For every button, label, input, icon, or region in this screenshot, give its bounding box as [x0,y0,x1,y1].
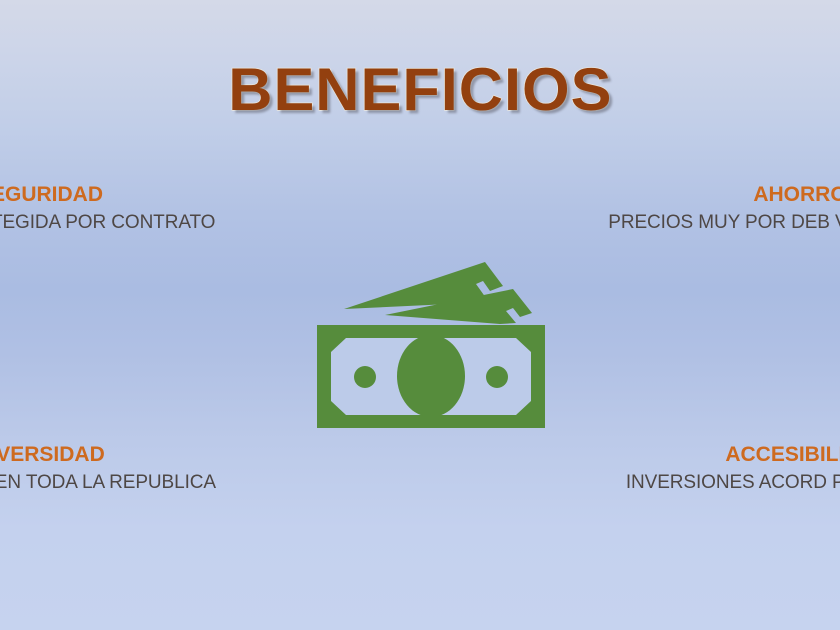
money-bills-icon [300,250,562,440]
benefit-heading-seguridad: SEGURIDAD [0,182,240,207]
banknote-left-dot [354,366,376,388]
benefit-block-diversidad: DIVERSIDAD DISPONIBLES EN TODA LA REPUBL… [0,442,240,496]
page-title: BENEFICIOS [228,58,612,122]
benefit-block-seguridad: SEGURIDAD ON ESTA PROTEGIDA POR CONTRATO [0,182,240,236]
money-bills-icon-svg [300,250,562,440]
slide-canvas: BENEFICIOS SEGURIDAD ON ESTA PROTEGIDA P… [0,0,840,630]
banknote-right-dot [486,366,508,388]
benefit-body-seguridad: ON ESTA PROTEGIDA POR CONTRATO [0,209,240,236]
benefit-block-accesibilidad: ACCESIBILIDA INVERSIONES ACORD PRESUPUES… [600,442,840,496]
title-container: BENEFICIOS [0,58,840,122]
benefit-block-ahorro: AHORRO PRECIOS MUY POR DEB VALOR COMERCI [600,182,840,236]
benefit-body-diversidad: DISPONIBLES EN TODA LA REPUBLICA [0,469,240,496]
banknote-center-oval [397,335,465,417]
benefit-heading-diversidad: DIVERSIDAD [0,442,240,467]
benefit-heading-ahorro: AHORRO [600,182,840,207]
benefit-body-accesibilidad: INVERSIONES ACORD PRESUPUESTO [600,469,840,496]
benefit-heading-accesibilidad: ACCESIBILIDA [600,442,840,467]
benefit-body-ahorro: PRECIOS MUY POR DEB VALOR COMERCI [600,209,840,236]
money-icon-group [317,262,545,428]
